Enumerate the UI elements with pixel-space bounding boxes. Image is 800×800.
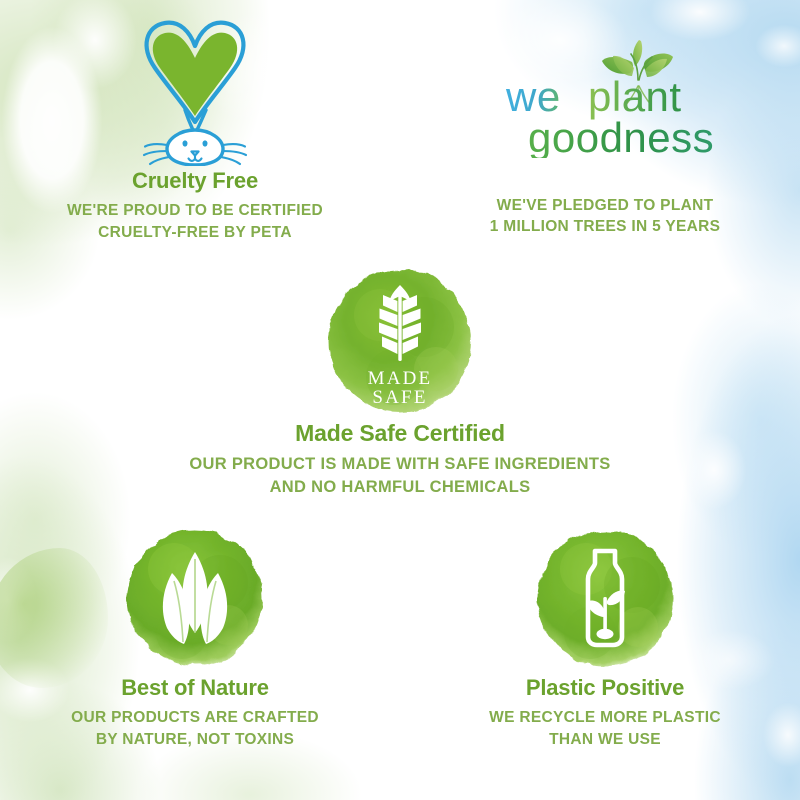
claim-subtitle-line: 1 MILLION TREES IN 5 YEARS [410,216,800,237]
badge-container [0,18,390,168]
claim-subtitle-line: THAN WE USE [410,729,800,750]
claim-block-plastic-positive: Plastic Positive WE RECYCLE MORE PLASTIC… [410,520,800,750]
claims-grid: Cruelty Free WE'RE PROUD TO BE CERTIFIED… [0,0,800,800]
logo-word-goodness: goodness [528,114,714,158]
claim-subtitle: OUR PRODUCTS ARE CRAFTED BY NATURE, NOT … [0,707,390,750]
claim-subtitle-line: OUR PRODUCTS ARE CRAFTED [0,707,390,728]
claim-subtitle: OUR PRODUCT IS MADE WITH SAFE INGREDIENT… [100,453,700,499]
claim-subtitle-line: WE RECYCLE MORE PLASTIC [410,707,800,728]
logo-word-we: we [505,73,561,120]
logo-word-plant: plant [588,73,682,120]
claim-heading: Made Safe Certified [100,420,700,446]
claim-subtitle-line: WE'RE PROUD TO BE CERTIFIED [0,200,390,221]
claim-block-best-of-nature: Best of Nature OUR PRODUCTS ARE CRAFTED … [0,520,390,750]
claim-subtitle-line: WE'VE PLEDGED TO PLANT [410,195,800,216]
claim-heading: Best of Nature [0,675,390,700]
claim-block-made-safe-certified: MADE SAFE Made Safe Certified OUR PRODUC… [100,262,700,499]
claim-block-cruelty-free: Cruelty Free WE'RE PROUD TO BE CERTIFIED… [0,18,390,243]
we-plant-goodness-sprout-logo: we plant goodness [480,28,730,158]
made-safe-leaf-badge-icon: MADE SAFE [324,265,476,417]
badge-container: MADE SAFE [100,262,700,420]
claim-subtitle-line: BY NATURE, NOT TOXINS [0,729,390,750]
claim-heading: Plastic Positive [410,675,800,700]
badge-container [0,520,390,675]
claim-subtitle: WE RECYCLE MORE PLASTIC THAN WE USE [410,707,800,750]
claim-subtitle: WE'VE PLEDGED TO PLANT 1 MILLION TREES I… [410,195,800,238]
bottle-with-sprout-badge-icon [532,525,678,671]
claim-subtitle-line: OUR PRODUCT IS MADE WITH SAFE INGREDIENT… [100,453,700,476]
claim-subtitle-line: AND NO HARMFUL CHEMICALS [100,476,700,499]
claim-block-we-plant-goodness: we plant goodness WE'VE PLEDGED TO PLANT… [410,18,800,238]
sustainability-claims-graphic: Cruelty Free WE'RE PROUD TO BE CERTIFIED… [0,0,800,800]
claim-subtitle: WE'RE PROUD TO BE CERTIFIED CRUELTY-FREE… [0,200,390,243]
badge-container [410,520,800,675]
claim-subtitle-line: CRUELTY-FREE BY PETA [0,222,390,243]
badge-label-line: MADE [368,368,433,389]
claim-heading: Cruelty Free [0,168,390,193]
peta-cruelty-free-bunny-icon [130,18,260,166]
three-leaves-badge-icon [122,525,268,671]
badge-label-line: SAFE [372,387,427,408]
badge-container: we plant goodness [410,18,800,168]
